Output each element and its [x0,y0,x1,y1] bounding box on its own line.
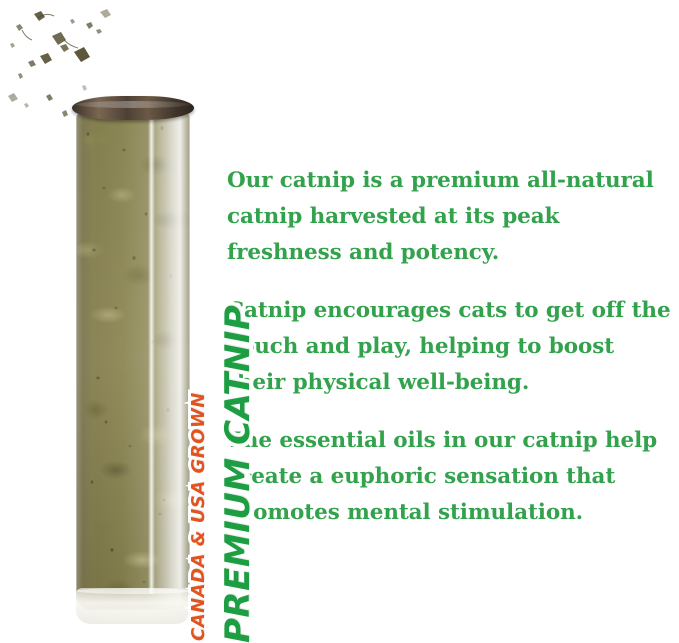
copy-paragraph-2: Catnip encourages cats to get off the co… [227,293,679,401]
label-title-text: PREMIUM CATNIP [218,305,258,643]
product-tube: CANADA & USA GROWN PREMIUM CATNIP [70,96,196,630]
copy-paragraph-3: The essential oils in our catnip help cr… [227,423,679,531]
copy-paragraph-1: Our catnip is a premium all-natural catn… [227,163,679,271]
tube-contents-catnip [76,110,190,610]
tube-base-cap [76,588,190,624]
marketing-copy: Our catnip is a premium all-natural catn… [227,163,679,531]
tube-cap [72,96,194,120]
label-origin-text: CANADA & USA GROWN [188,392,209,641]
